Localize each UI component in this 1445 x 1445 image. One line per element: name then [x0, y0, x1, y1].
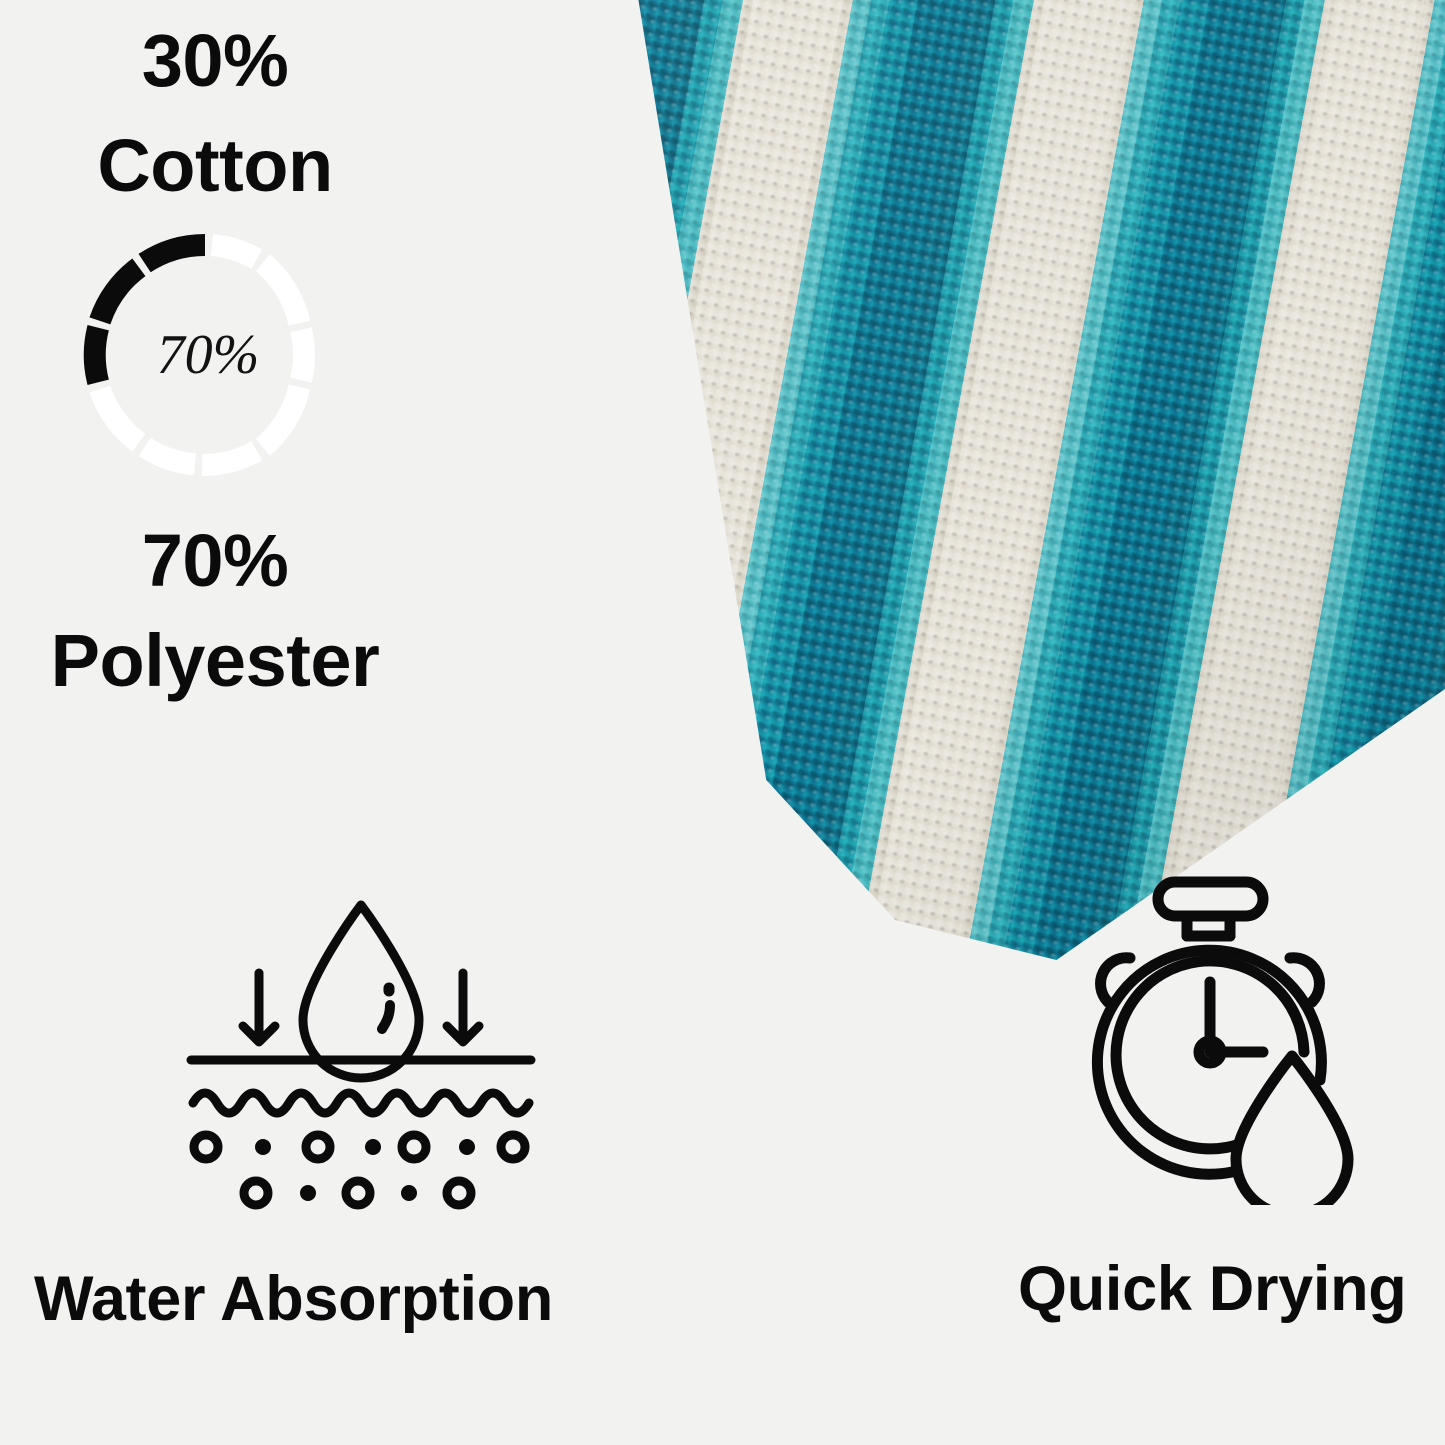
polyester-material-label: Polyester	[0, 618, 430, 703]
particle-ring	[244, 1181, 268, 1205]
stopwatch-crown	[1158, 882, 1263, 916]
particle-ring	[306, 1135, 330, 1159]
particle-dot	[365, 1139, 381, 1155]
absorption-particles	[194, 1135, 525, 1205]
towel-fabric-weave	[390, 0, 1445, 980]
particle-dot	[255, 1139, 271, 1155]
water-absorption-label: Water Absorption	[16, 1263, 724, 1335]
wavy-absorption-line	[193, 1093, 529, 1113]
particle-ring	[194, 1135, 218, 1159]
infographic-canvas: 30% Cotton 70% 70% Polyeste	[0, 0, 1445, 1445]
droplet-highlight-stroke	[382, 1005, 390, 1029]
particle-ring	[501, 1135, 525, 1159]
droplet-shape	[303, 905, 419, 1078]
quick-drying-label: Quick Drying	[1000, 1253, 1445, 1325]
cotton-material-label: Cotton	[0, 123, 430, 208]
feature-quick-drying: Quick Drying	[1000, 855, 1445, 1325]
towel-lighting-overlay	[390, 0, 1445, 980]
quick-drying-icon-box	[1000, 855, 1445, 1205]
particle-dot	[401, 1185, 417, 1201]
particle-ring	[447, 1181, 471, 1205]
feature-water-absorption: Water Absorption	[16, 865, 706, 1335]
composition-donut-chart: 70%	[78, 228, 332, 482]
polyester-percent-label: 70%	[0, 518, 430, 603]
towel-photo-clip	[390, 0, 1445, 980]
cotton-percent-label: 30%	[0, 18, 430, 103]
towel-product-photo	[390, 0, 1445, 980]
particle-dot	[459, 1139, 475, 1155]
donut-center-value: 70%	[78, 228, 332, 482]
water-absorption-icon-box	[16, 865, 706, 1215]
stopwatch-droplet-icon	[1058, 860, 1388, 1205]
water-absorption-icon	[161, 885, 561, 1215]
particle-ring	[346, 1181, 370, 1205]
droplet-shape	[1236, 1056, 1348, 1205]
particle-ring	[402, 1135, 426, 1159]
particle-dot	[300, 1185, 316, 1201]
